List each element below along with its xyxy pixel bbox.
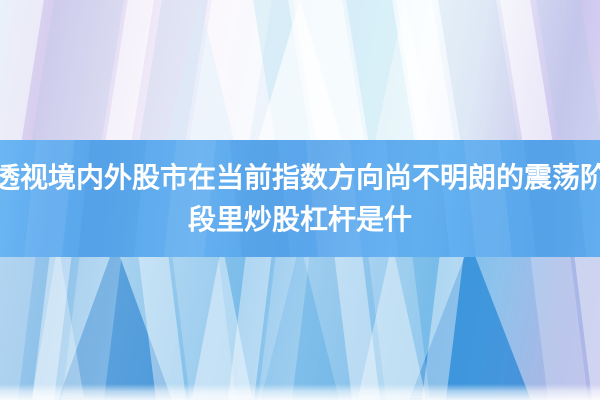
- bottom-rays-region: [0, 257, 600, 400]
- beam-wedge-icon: [375, 0, 435, 141]
- title-line-2: 段里炒股杠杆是什: [188, 199, 412, 241]
- banner-image: 透视境内外股市在当前指数方向尚不明朗的震荡阶 段里炒股杠杆是什: [0, 0, 600, 400]
- title-line-1: 透视境内外股市在当前指数方向尚不明朗的震荡阶: [0, 157, 600, 199]
- beam-wedge-icon: [166, 0, 234, 141]
- top-gradient-region: [0, 0, 600, 141]
- beam-wedge-icon: [258, 0, 342, 141]
- beam-wedge-icon: [358, 257, 426, 398]
- beam-wedge-icon: [192, 257, 252, 398]
- banner-title: 透视境内外股市在当前指数方向尚不明朗的震荡阶 段里炒股杠杆是什: [0, 140, 600, 257]
- bottom-fade: [0, 384, 600, 400]
- beam-wedge-icon: [32, 257, 84, 398]
